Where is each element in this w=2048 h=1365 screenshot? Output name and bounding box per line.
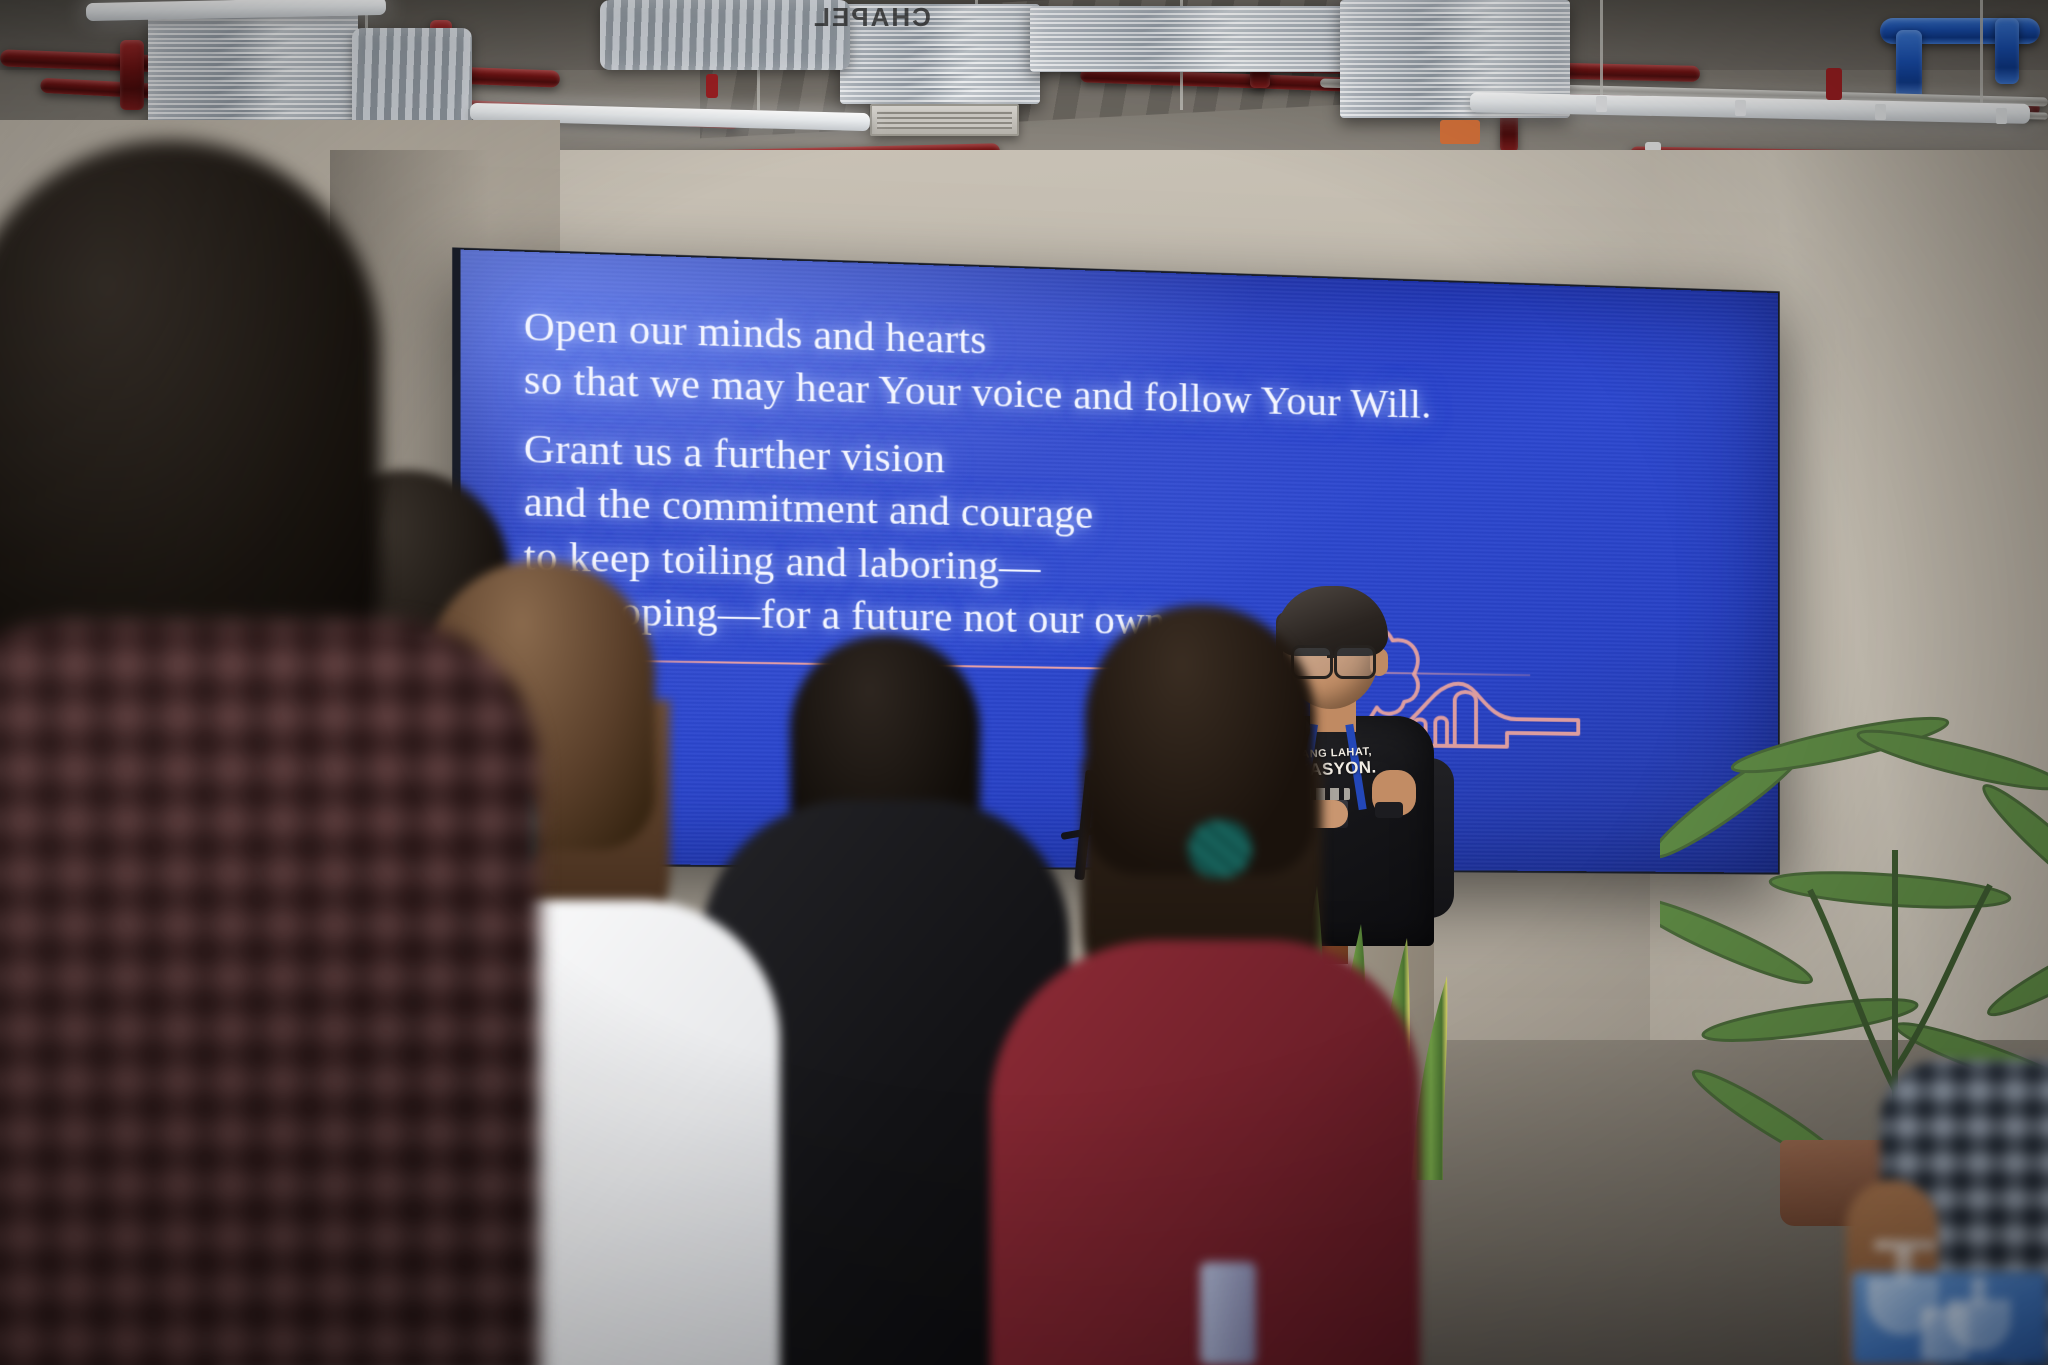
wine-glass-stem-2 <box>1972 1278 1986 1304</box>
light-clip <box>1996 108 2007 124</box>
wristwatch <box>1375 802 1403 818</box>
audience-member-1-head <box>0 140 380 660</box>
duct-stencil-label: CHAPEL <box>812 2 931 33</box>
hanger-rod <box>1980 0 1983 110</box>
eyeglasses-right-lens-icon <box>1334 645 1376 679</box>
hair-scrunchie-teal-2 <box>1188 820 1252 878</box>
ceiling-air-diffuser <box>870 104 1019 136</box>
tumbler-glass <box>1922 1308 1968 1360</box>
wine-glass-stem <box>1896 1248 1912 1282</box>
sprinkler-pipe-dropper <box>120 40 144 110</box>
pipe-tag-orange <box>1440 120 1480 144</box>
wine-glass-base <box>1874 1240 1936 1250</box>
light-clip <box>1596 96 1607 112</box>
pipe-tag-red <box>706 74 718 98</box>
light-clip <box>1735 100 1746 116</box>
pipe-tag-red <box>1826 68 1842 100</box>
photo-scene: CHAPEL Open our minds and hearts so that… <box>0 0 2048 1365</box>
audience-member-1-body <box>0 620 540 1365</box>
hanger-rod <box>1600 0 1603 100</box>
light-clip <box>1875 104 1886 120</box>
hvac-duct-insulated <box>1030 6 1350 72</box>
water-bottle <box>1200 1262 1256 1365</box>
eyeglasses-bridge-icon <box>1327 655 1335 658</box>
water-pipe-blue-branch <box>1995 18 2019 84</box>
water-pipe-blue-branch <box>1896 30 1922 100</box>
